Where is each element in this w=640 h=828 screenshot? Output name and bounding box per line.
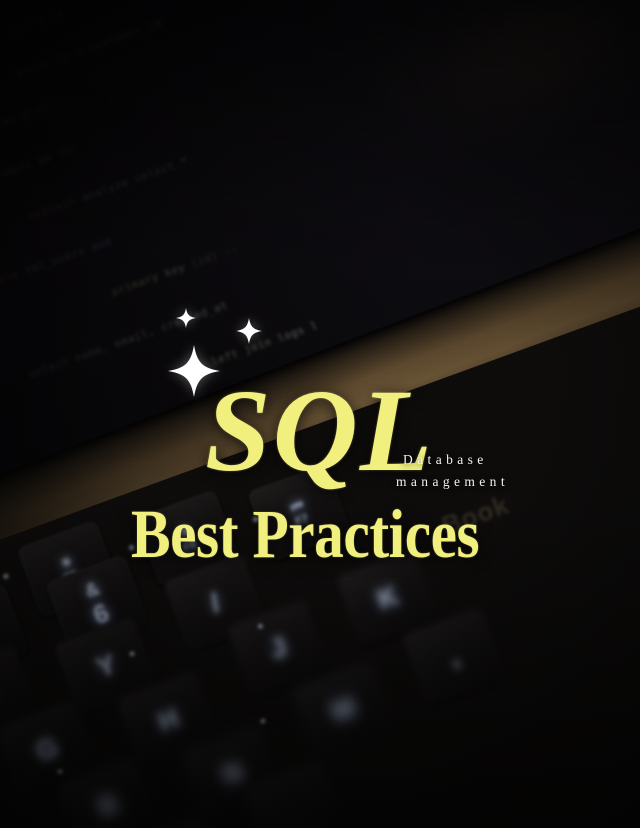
kicker-line-1: Database [396, 449, 576, 471]
text-overlay: SQL Database management Best Practices [0, 0, 640, 828]
poster-root: --selectcount(*)fromtbl_ordersojointbl_i… [0, 0, 640, 828]
page-subtitle: Best Practices [131, 500, 479, 569]
kicker-line-2: management [396, 471, 576, 493]
sparkle-medium-icon [236, 318, 262, 344]
subtitle-kicker: Database management [396, 449, 576, 493]
sparkle-small-icon [176, 308, 196, 328]
